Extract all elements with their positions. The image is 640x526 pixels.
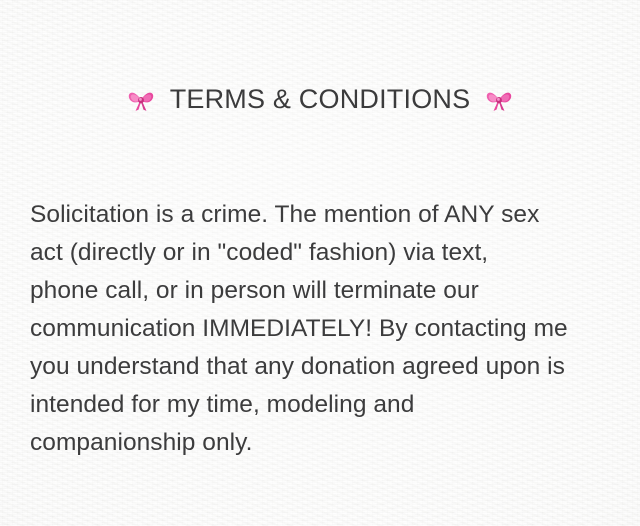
terms-body-text: Solicitation is a crime. The mention of …: [30, 196, 630, 462]
body-line: Solicitation is a crime. The mention of …: [30, 196, 630, 234]
title-row: TERMS & CONDITIONS: [0, 84, 640, 115]
page-title: TERMS & CONDITIONS: [170, 84, 471, 115]
ribbon-bow-icon-left: [126, 85, 156, 115]
terms-and-conditions-card: TERMS & CONDITIONS Solicitation is a cri…: [0, 0, 640, 526]
ribbon-bow-icon-right: [484, 85, 514, 115]
body-line: companionship only.: [30, 424, 630, 462]
body-line: you understand that any donation agreed …: [30, 348, 630, 386]
body-line: communication IMMEDIATELY! By contacting…: [30, 310, 630, 348]
card-content: TERMS & CONDITIONS Solicitation is a cri…: [0, 0, 640, 526]
body-line: intended for my time, modeling and: [30, 386, 630, 424]
body-line: phone call, or in person will terminate …: [30, 272, 630, 310]
body-line: act (directly or in "coded" fashion) via…: [30, 234, 630, 272]
